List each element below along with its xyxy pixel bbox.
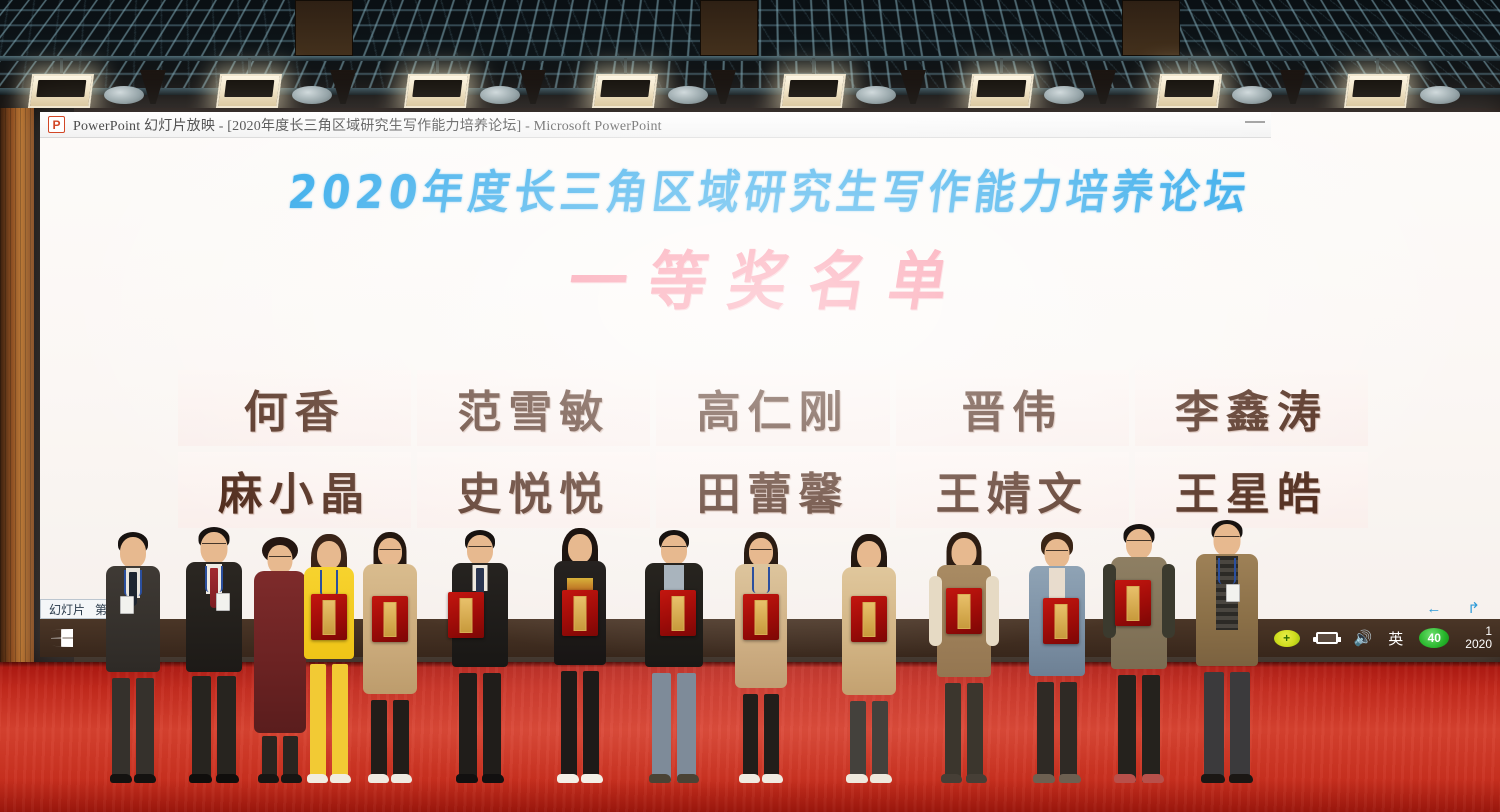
lanyard xyxy=(1218,558,1236,584)
certificate xyxy=(1043,598,1079,644)
legs xyxy=(309,656,349,782)
leg xyxy=(677,673,696,782)
leg xyxy=(1230,672,1250,782)
person-awardee-3 xyxy=(444,530,516,782)
award-ceremony-photo: P PowerPoint 幻灯片放映 - [2020年度长三角区域研究生写作能力… xyxy=(0,0,1500,812)
leg xyxy=(1060,682,1077,782)
leg xyxy=(945,683,961,782)
shoe xyxy=(1229,774,1253,783)
person-awardee-10 xyxy=(1104,524,1174,782)
leg xyxy=(1204,672,1224,782)
leg xyxy=(393,700,409,782)
shoe xyxy=(1114,774,1136,783)
leg xyxy=(112,678,130,782)
glasses-icon xyxy=(662,546,686,551)
glasses-icon xyxy=(469,546,492,551)
shoe xyxy=(557,774,579,783)
certificate xyxy=(311,594,347,640)
shoe xyxy=(1033,774,1055,783)
certificate xyxy=(562,590,598,636)
shoe xyxy=(1201,774,1225,783)
legs xyxy=(370,692,410,782)
shirt xyxy=(1049,568,1065,600)
badge xyxy=(216,593,230,611)
shoe xyxy=(966,774,987,783)
person-awardee-2 xyxy=(356,532,424,782)
shoe xyxy=(870,774,892,783)
person-official-4 xyxy=(1190,520,1264,782)
shoe xyxy=(1059,774,1081,783)
shoe xyxy=(391,774,412,783)
leg xyxy=(217,676,236,782)
sleeve-left xyxy=(1103,564,1116,638)
glasses-icon xyxy=(380,549,401,554)
legs xyxy=(651,665,697,782)
shoe xyxy=(677,774,699,783)
legs xyxy=(110,670,156,782)
sleeve-right xyxy=(986,576,999,646)
legs xyxy=(1203,664,1251,782)
head xyxy=(317,541,341,569)
shoe xyxy=(846,774,868,783)
glasses-icon xyxy=(1127,540,1151,545)
shoe xyxy=(134,774,156,783)
certificate xyxy=(743,594,779,640)
shoe xyxy=(941,774,962,783)
person-official-1 xyxy=(98,532,168,782)
leg xyxy=(850,701,866,782)
legs xyxy=(1036,674,1078,782)
person-official-2 xyxy=(178,527,250,782)
award-recipients-group xyxy=(0,0,1500,812)
head xyxy=(120,537,146,568)
lanyard xyxy=(124,570,142,596)
shoe xyxy=(189,774,212,783)
person-awardee-9 xyxy=(1022,532,1092,782)
certificate xyxy=(448,592,484,638)
head xyxy=(952,538,977,567)
head xyxy=(857,541,881,569)
shoe xyxy=(307,774,328,783)
leg xyxy=(872,701,888,782)
legs xyxy=(849,693,889,782)
leg xyxy=(1037,682,1054,782)
leg xyxy=(1118,675,1136,782)
shoe xyxy=(581,774,603,783)
leg xyxy=(310,664,326,782)
certificate xyxy=(660,590,696,636)
leg xyxy=(764,694,779,782)
leg xyxy=(136,678,154,782)
head xyxy=(568,534,592,563)
glasses-icon xyxy=(1046,550,1068,555)
shoe xyxy=(762,774,783,783)
certificate xyxy=(946,588,982,634)
shoe xyxy=(368,774,389,783)
legs xyxy=(560,663,600,782)
leg xyxy=(459,673,477,782)
shoe xyxy=(739,774,760,783)
shoe xyxy=(1142,774,1164,783)
glasses-icon xyxy=(269,556,291,561)
certificate xyxy=(1115,580,1151,626)
badge xyxy=(1226,584,1240,602)
glasses-icon xyxy=(1215,536,1240,541)
certificate xyxy=(851,596,887,642)
shoe xyxy=(649,774,671,783)
person-awardee-7 xyxy=(836,534,902,782)
lanyard xyxy=(320,570,338,596)
person-awardee-8 xyxy=(930,532,998,782)
shoe xyxy=(258,774,279,783)
leg xyxy=(743,694,758,782)
glasses-icon xyxy=(202,543,226,548)
shoe xyxy=(216,774,239,783)
shoe xyxy=(482,774,504,783)
legs xyxy=(944,675,984,782)
certificate xyxy=(372,596,408,642)
glasses-icon xyxy=(751,549,772,554)
person-awardee-5 xyxy=(638,530,710,782)
sleeve-left xyxy=(929,576,942,646)
legs xyxy=(457,665,503,782)
leg xyxy=(652,673,671,782)
leg xyxy=(561,671,577,782)
leg xyxy=(1142,675,1160,782)
legs xyxy=(190,670,238,782)
leg xyxy=(583,671,599,782)
leg xyxy=(483,673,501,782)
leg xyxy=(332,664,348,782)
legs xyxy=(742,686,780,782)
legs xyxy=(1117,667,1161,782)
shoe xyxy=(110,774,132,783)
person-awardee-6 xyxy=(728,532,794,782)
sleeve-right xyxy=(1162,564,1175,638)
lanyard xyxy=(205,566,223,592)
shoe xyxy=(330,774,351,783)
person-awardee-4 xyxy=(546,528,614,782)
head xyxy=(201,532,228,564)
leg xyxy=(371,700,387,782)
lanyard xyxy=(752,567,770,593)
leg xyxy=(192,676,211,782)
person-awardee-1 xyxy=(296,534,362,782)
leg xyxy=(967,683,983,782)
badge xyxy=(120,596,134,614)
shoe xyxy=(456,774,478,783)
legs xyxy=(260,729,300,782)
